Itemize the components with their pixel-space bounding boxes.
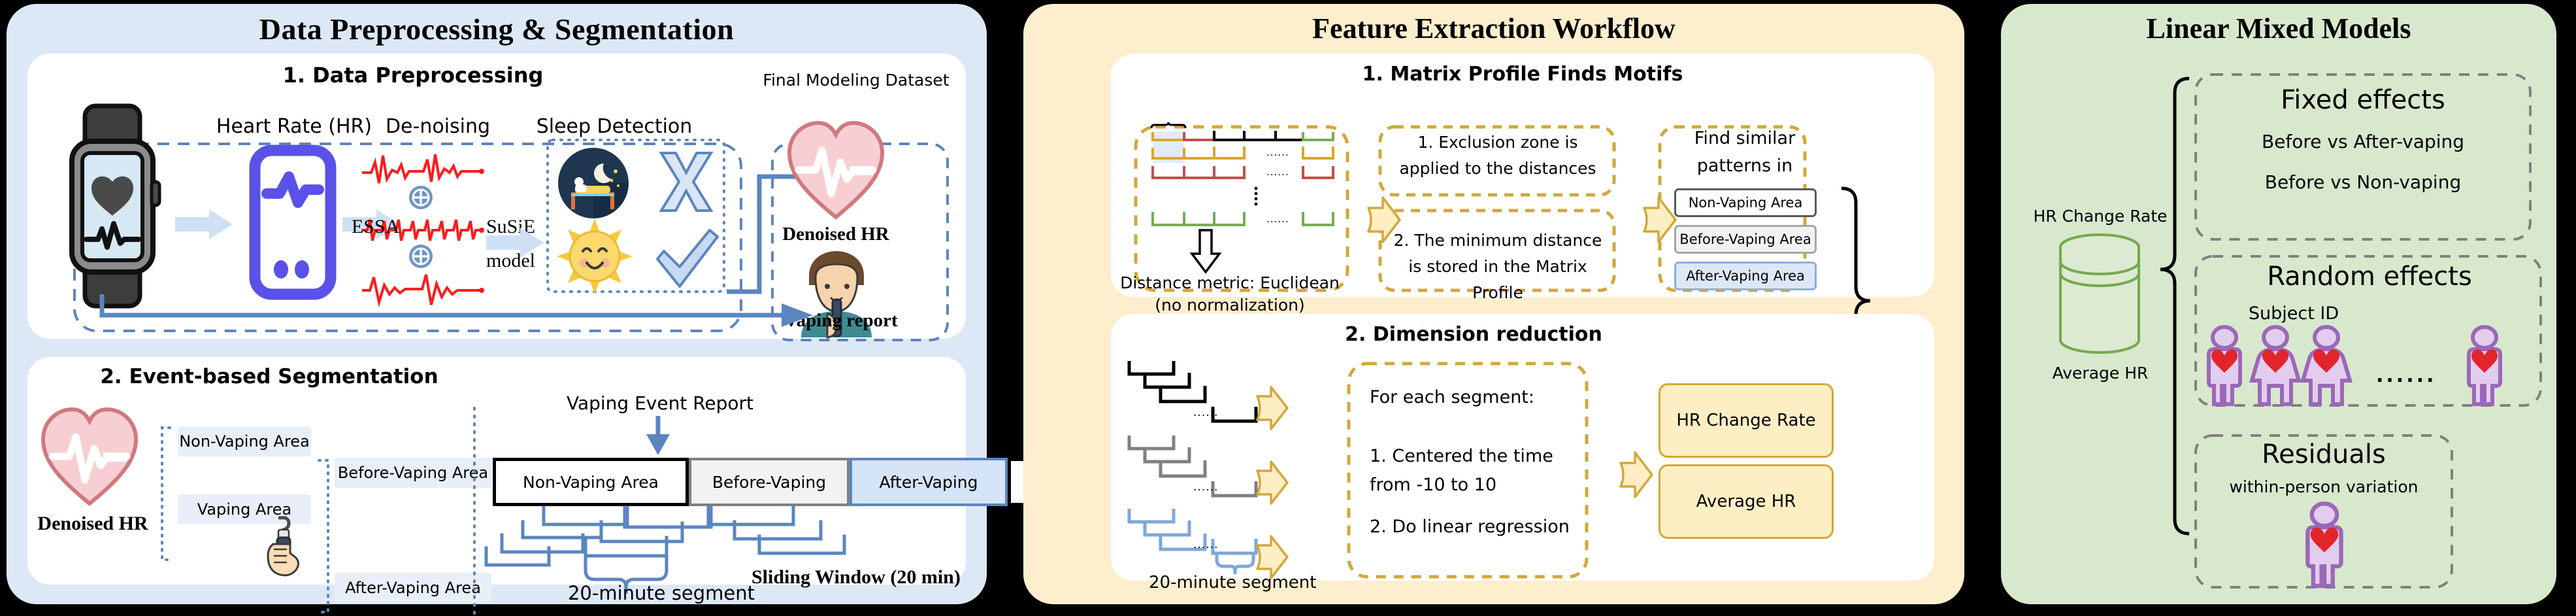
- chevron-arrow-seg-2: [1255, 459, 1290, 506]
- step-centered-time: 1. Centered the time from -10 to 10: [1370, 442, 1572, 500]
- label-sleep-detection: Sleep Detection: [516, 115, 712, 138]
- svg-text:......: ......: [1193, 406, 1218, 419]
- timeline-segment-after-vaping[interactable]: After-Vaping: [850, 458, 1008, 506]
- arrow-watch-to-vaping-report: [78, 275, 823, 327]
- output-average-hr-label: Average HR: [1696, 492, 1796, 511]
- label-for-each-segment: For each segment:: [1370, 387, 1534, 407]
- card-title-dimension-reduction: 2. Dimension reduction: [1111, 323, 1836, 346]
- chevron-arrow-seg-1: [1255, 385, 1290, 432]
- title-random-effects: Random effects: [2193, 262, 2546, 292]
- label-average-hr-right: Average HR: [2028, 364, 2172, 383]
- segment-staircase-group: ...... ...... ......: [1125, 358, 1347, 574]
- arrow-denoising-to-sleep: [486, 228, 545, 258]
- svg-text:......: ......: [2376, 364, 2436, 387]
- matrix-profile-series: ...... ...... ......: [1137, 128, 1344, 233]
- panel-title-left: Data Preprocessing & Segmentation: [7, 12, 987, 46]
- arrow-vaping-event-report: [642, 416, 674, 456]
- label-denoised-hr-bottom: Denoised HR: [27, 513, 158, 535]
- svg-text:......: ......: [1193, 481, 1218, 494]
- step-minimum-distance: 2. The minimum distance is stored in the…: [1387, 228, 1609, 306]
- chip-non-vaping-area[interactable]: Non-Vaping Area: [178, 426, 311, 456]
- svg-text:......: ......: [1266, 166, 1289, 178]
- chevron-arrow-seg-3: [1255, 534, 1290, 581]
- label-denoised-hr-top: Denoised HR: [774, 224, 898, 245]
- fixed-effect-before-non: Before vs Non-vaping: [2193, 171, 2533, 193]
- brace-effects: [2156, 76, 2196, 534]
- denoised-hr-heart-icon: [41, 404, 139, 509]
- subtitle-residuals: within-person variation: [2193, 477, 2454, 496]
- chip-before-vaping-area[interactable]: Before-Vaping Area: [335, 458, 491, 488]
- arrow-watch-to-phone: [175, 209, 234, 239]
- night-sleep-icon: [557, 146, 630, 220]
- heart-ecg-icon: [787, 119, 885, 221]
- output-average-hr[interactable]: Average HR: [1659, 464, 1834, 539]
- panel-title-right: Linear Mixed Models: [2001, 12, 2556, 45]
- output-hr-change-rate-label: HR Change Rate: [1676, 411, 1815, 430]
- hand-vape-icon: [267, 515, 314, 575]
- step-exclusion-zone: 1. Exclusion zone is applied to the dist…: [1387, 129, 1609, 182]
- label-sliding-window: Sliding Window (20 min): [751, 566, 961, 589]
- chip-after-vaping-area[interactable]: After-Vaping Area: [335, 573, 491, 603]
- title-residuals: Residuals: [2193, 439, 2454, 470]
- output-hr-change-rate[interactable]: HR Change Rate: [1659, 383, 1834, 458]
- x-mark-icon: [656, 149, 716, 214]
- database-cylinder-icon: [2057, 233, 2142, 354]
- svg-text:......: ......: [1266, 213, 1289, 225]
- label-vaping-event-report: Vaping Event Report: [536, 392, 784, 414]
- card-title-event-segmentation: 2. Event-based Segmentation: [27, 365, 511, 388]
- subject-people-icons: ......: [2202, 326, 2529, 405]
- label-de-noising: De-noising: [353, 115, 523, 138]
- label-essa: ESSA: [352, 216, 399, 238]
- pattern-box-non-vaping[interactable]: Non-Vaping Area: [1674, 188, 1817, 217]
- label-distance-metric-line2: (no normalization): [1119, 296, 1341, 315]
- panel-title-mid: Feature Extraction Workflow: [1023, 12, 1964, 45]
- label-subject-id: Subject ID: [2209, 303, 2379, 324]
- residual-person-icon: [2292, 502, 2358, 587]
- title-fixed-effects: Fixed effects: [2193, 85, 2533, 115]
- timeline-segment-non-vaping[interactable]: Non-Vaping Area: [493, 458, 689, 506]
- label-20-minute-segment-mid: 20-minute segment: [1149, 573, 1316, 592]
- dotted-bracket-right-areas: [314, 458, 333, 615]
- svg-text:......: ......: [1266, 146, 1289, 158]
- label-find-similar-line1: Find similar: [1673, 128, 1817, 148]
- step-linear-regression: 2. Do linear regression: [1370, 517, 1585, 537]
- label-find-similar-line2: patterns in: [1673, 156, 1817, 176]
- pattern-box-after-vaping[interactable]: After-Vaping Area: [1674, 262, 1817, 290]
- svg-text:......: ......: [1193, 538, 1218, 551]
- dotted-divider-segmentation: [469, 407, 480, 616]
- label-hr-change-rate-right: HR Change Rate: [2028, 207, 2172, 226]
- fixed-effect-before-after: Before vs After-vaping: [2193, 131, 2533, 152]
- arrow-down-distance-metric: [1189, 230, 1222, 273]
- pattern-box-before-vaping[interactable]: Before-Vaping Area: [1674, 225, 1817, 254]
- chevron-arrow-outputs: [1618, 450, 1655, 500]
- chevron-arrow-find-patterns: [1642, 195, 1678, 245]
- label-distance-metric-line1: Distance metric: Euclidean: [1119, 273, 1341, 292]
- timeline-segment-before-vaping[interactable]: Before-Vaping: [689, 458, 850, 506]
- dotted-bracket-left-areas: [157, 425, 176, 562]
